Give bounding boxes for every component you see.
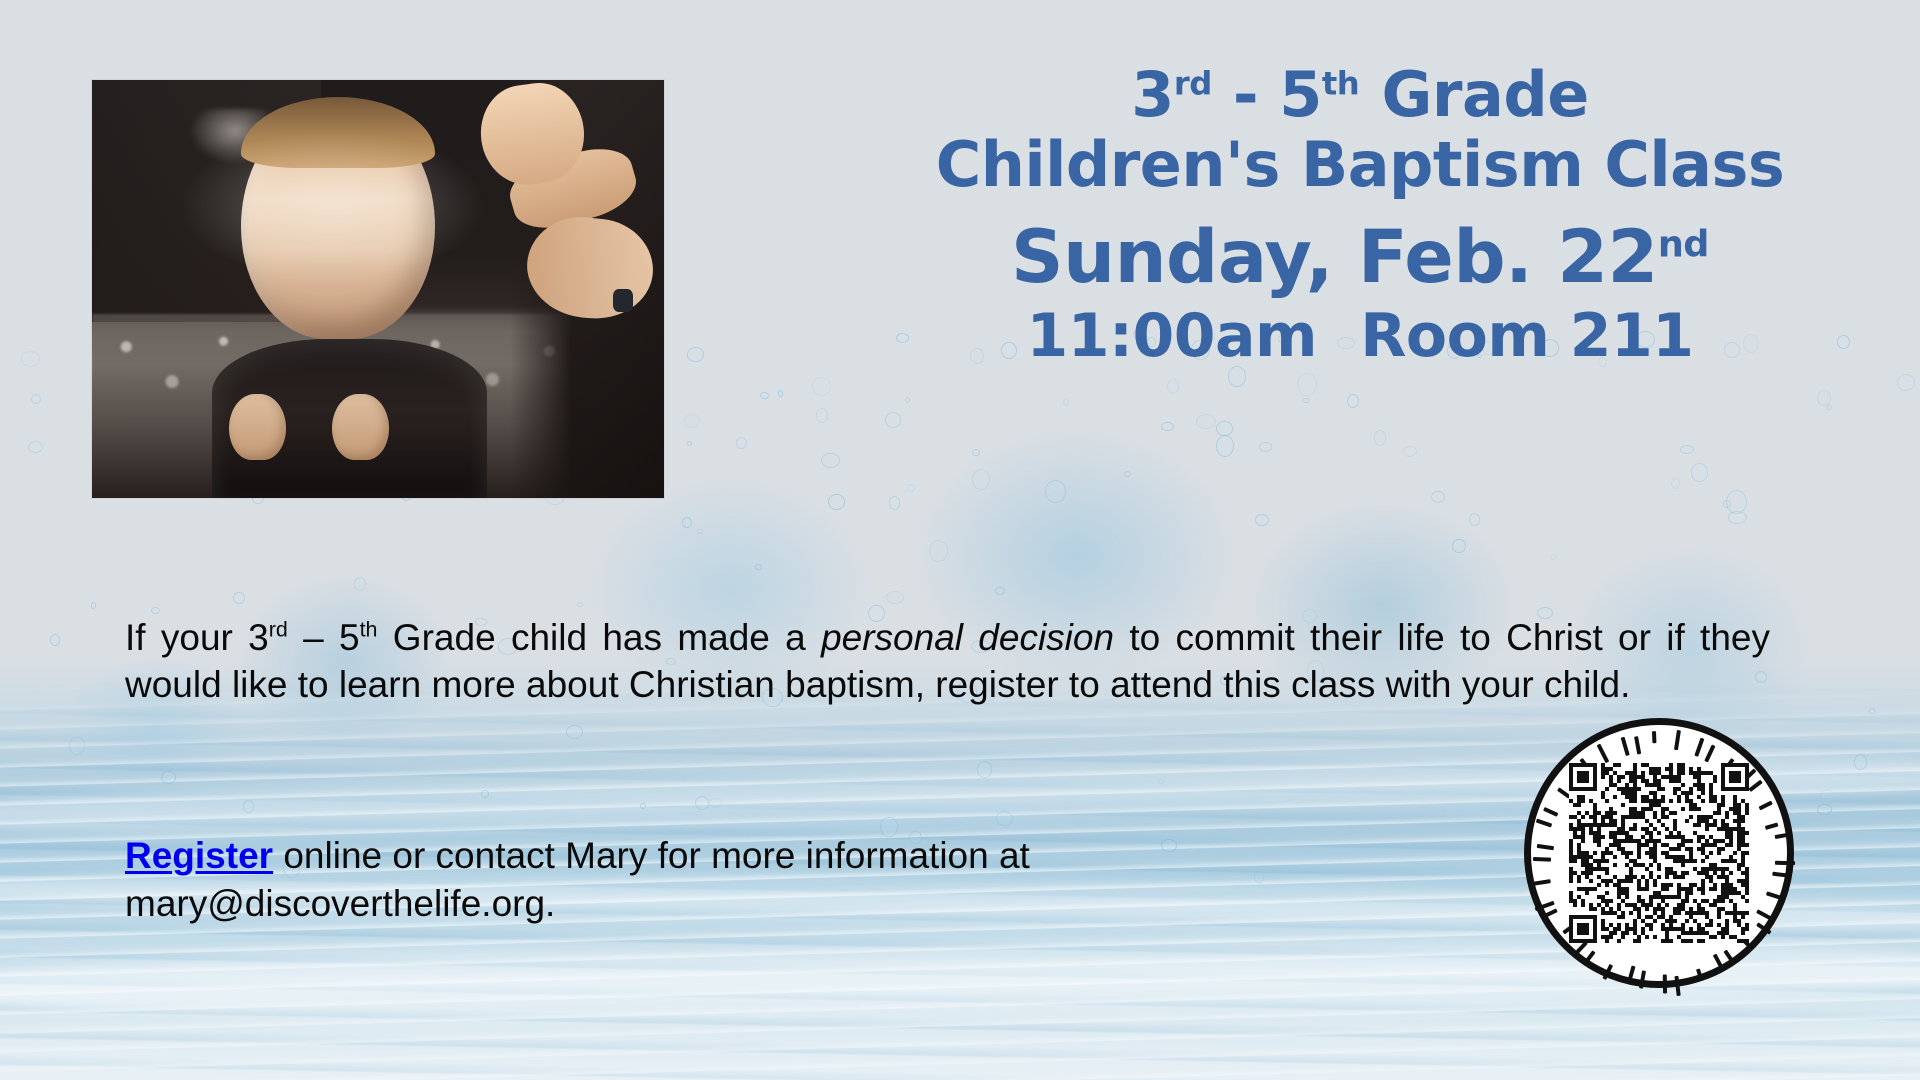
water-droplet	[354, 577, 366, 591]
date-line: Sunday, Feb. 22nd	[840, 219, 1880, 296]
water-droplet	[1302, 398, 1310, 403]
water-droplet	[684, 414, 700, 428]
water-droplet	[1869, 708, 1874, 714]
grade-to-ordinal: th	[1322, 64, 1359, 102]
water-droplet	[812, 377, 831, 396]
qr-ring-tick	[1533, 857, 1551, 862]
qr-ring-tick	[1639, 970, 1646, 988]
water-droplet	[1259, 442, 1272, 451]
qr-ring-tick	[1765, 823, 1779, 830]
water-droplet	[687, 347, 704, 363]
qr-ring-tick	[1621, 737, 1630, 756]
qr-ring-tick	[1583, 950, 1595, 964]
flyer-canvas: 3rd - 5thGrade Children's Baptism Class …	[0, 0, 1920, 1080]
water-droplet	[1347, 394, 1360, 409]
qr-ring-tick	[1602, 964, 1613, 980]
date-text: Sunday, Feb. 22	[1011, 215, 1658, 300]
description-paragraph: If your 3rd – 5th Grade child has made a…	[125, 615, 1770, 709]
time-text: 11:00am	[1027, 301, 1318, 371]
water-droplet	[1045, 480, 1066, 502]
water-droplet	[709, 798, 722, 806]
water-droplet	[1196, 414, 1216, 429]
water-droplet	[481, 790, 489, 797]
water-droplet	[682, 517, 692, 528]
qr-ring-tick	[1545, 908, 1558, 917]
water-droplet	[1728, 511, 1747, 524]
water-droplet	[1216, 435, 1234, 457]
water-droplet	[905, 397, 910, 403]
qr-ring-tick	[1723, 950, 1734, 964]
qr-ring-tick	[1775, 861, 1795, 865]
water-droplet	[816, 408, 829, 422]
water-droplet	[1431, 491, 1445, 503]
water-droplet	[977, 761, 992, 778]
water-droplet	[233, 592, 244, 605]
water-droplet	[21, 351, 40, 367]
water-droplet	[91, 602, 97, 609]
qr-ring-tick	[1597, 744, 1610, 764]
grade-word: Grade	[1382, 58, 1589, 131]
class-title-line: Children's Baptism Class	[840, 132, 1880, 198]
water-droplet	[1817, 804, 1832, 815]
qr-ring-tick	[1537, 844, 1554, 850]
water-droplet	[929, 540, 948, 561]
baptism-photo-content	[92, 80, 664, 498]
water-droplet	[1826, 405, 1832, 410]
water-droplet	[907, 484, 915, 492]
qr-ring-tick	[1756, 909, 1773, 921]
water-droplet	[1161, 422, 1174, 432]
water-droplet	[1550, 554, 1556, 561]
water-droplet	[577, 602, 583, 607]
water-droplet	[1216, 421, 1232, 436]
baptism-photo	[92, 80, 664, 498]
qr-ring-tick	[1634, 736, 1641, 754]
qr-ring-tick	[1694, 738, 1704, 757]
desc-part-3: Grade child has made a	[378, 617, 822, 658]
water-droplet	[886, 591, 904, 604]
desc-emphasis: personal decision	[821, 617, 1114, 658]
water-droplet	[996, 811, 1013, 826]
water-droplet	[151, 607, 160, 614]
water-droplet	[1817, 390, 1831, 406]
water-droplet	[1691, 463, 1708, 482]
water-droplet	[695, 796, 709, 810]
water-droplet	[69, 737, 85, 756]
qr-ring-tick	[1674, 730, 1681, 750]
water-droplet	[821, 453, 840, 469]
water-droplet	[1297, 373, 1316, 397]
qr-ring-tick	[1704, 744, 1715, 762]
water-droplet	[736, 437, 747, 450]
room-text: Room 211	[1360, 301, 1693, 371]
qr-ring-tick	[1663, 974, 1667, 993]
water-droplet	[28, 441, 43, 453]
grade-to: 5	[1279, 58, 1322, 131]
water-droplet	[1680, 445, 1694, 454]
qr-ring-tick	[1759, 801, 1773, 811]
water-droplet	[1854, 754, 1867, 770]
water-droplet	[760, 392, 770, 399]
water-droplet	[885, 412, 901, 428]
qr-ring-tick	[1652, 731, 1656, 743]
water-droplet	[995, 587, 1005, 596]
date-ordinal: nd	[1658, 223, 1709, 266]
grade-range-line: 3rd - 5thGrade	[840, 62, 1880, 128]
grade-dash: -	[1212, 58, 1279, 131]
water-droplet	[889, 496, 901, 510]
water-droplet	[161, 771, 176, 785]
water-droplet	[1452, 539, 1465, 553]
desc-ordinal-1: rd	[269, 618, 288, 642]
register-link[interactable]: Register	[125, 835, 273, 876]
grade-from-ordinal: rd	[1174, 64, 1212, 102]
water-droplet	[972, 469, 990, 489]
water-droplet	[50, 634, 61, 646]
water-droplet	[1820, 789, 1834, 806]
water-droplet	[1671, 478, 1680, 489]
qr-matrix	[1569, 763, 1749, 943]
water-droplet	[1403, 446, 1418, 457]
water-droplet	[1726, 490, 1747, 514]
water-droplet	[778, 390, 784, 397]
contact-email-link[interactable]: mary@discoverthelife.org.	[125, 883, 555, 924]
water-droplet	[755, 564, 762, 570]
water-droplet	[1723, 500, 1732, 508]
water-droplet	[972, 449, 981, 457]
contact-paragraph: Register online or contact Mary for more…	[125, 832, 1325, 928]
water-droplet	[1374, 430, 1386, 446]
contact-rest: online or contact Mary for more informat…	[273, 835, 1030, 876]
desc-part-1: If your 3	[125, 617, 269, 658]
qr-ring-tick	[1627, 965, 1635, 982]
qr-ring-tick	[1713, 954, 1723, 967]
water-droplet	[31, 394, 41, 404]
registration-qr-code[interactable]	[1524, 718, 1794, 988]
desc-part-2: – 5	[288, 617, 360, 658]
qr-ring-tick	[1766, 891, 1784, 900]
qr-ring-tick	[1772, 872, 1791, 878]
qr-ring-tick	[1775, 833, 1788, 839]
water-droplet	[1167, 379, 1179, 394]
water-droplet	[1063, 399, 1069, 406]
photo-water-sheen	[92, 80, 664, 498]
water-droplet	[1158, 779, 1163, 784]
qr-ring-tick	[1748, 780, 1762, 792]
water-droplet	[566, 725, 584, 740]
water-droplet	[1897, 374, 1915, 390]
qr-ring-tick	[1674, 976, 1680, 996]
water-droplet	[687, 441, 692, 446]
headline-block: 3rd - 5thGrade Children's Baptism Class …	[840, 62, 1880, 368]
qr-ring-tick	[1696, 968, 1703, 981]
qr-ring-tick	[1531, 879, 1550, 886]
water-droplet	[243, 800, 254, 813]
qr-ring-tick	[1543, 807, 1558, 817]
water-droplet	[1124, 471, 1131, 477]
time-room-line: 11:00amRoom 211	[840, 305, 1880, 369]
qr-ring-tick	[1756, 922, 1771, 934]
desc-ordinal-2: th	[360, 618, 378, 642]
qr-ring-tick	[1536, 819, 1552, 828]
water-droplet	[697, 529, 702, 534]
water-droplet	[1469, 513, 1481, 526]
grade-from: 3	[1131, 58, 1174, 131]
water-droplet	[1255, 514, 1269, 526]
water-droplet	[828, 494, 844, 510]
water-droplet	[640, 803, 646, 810]
